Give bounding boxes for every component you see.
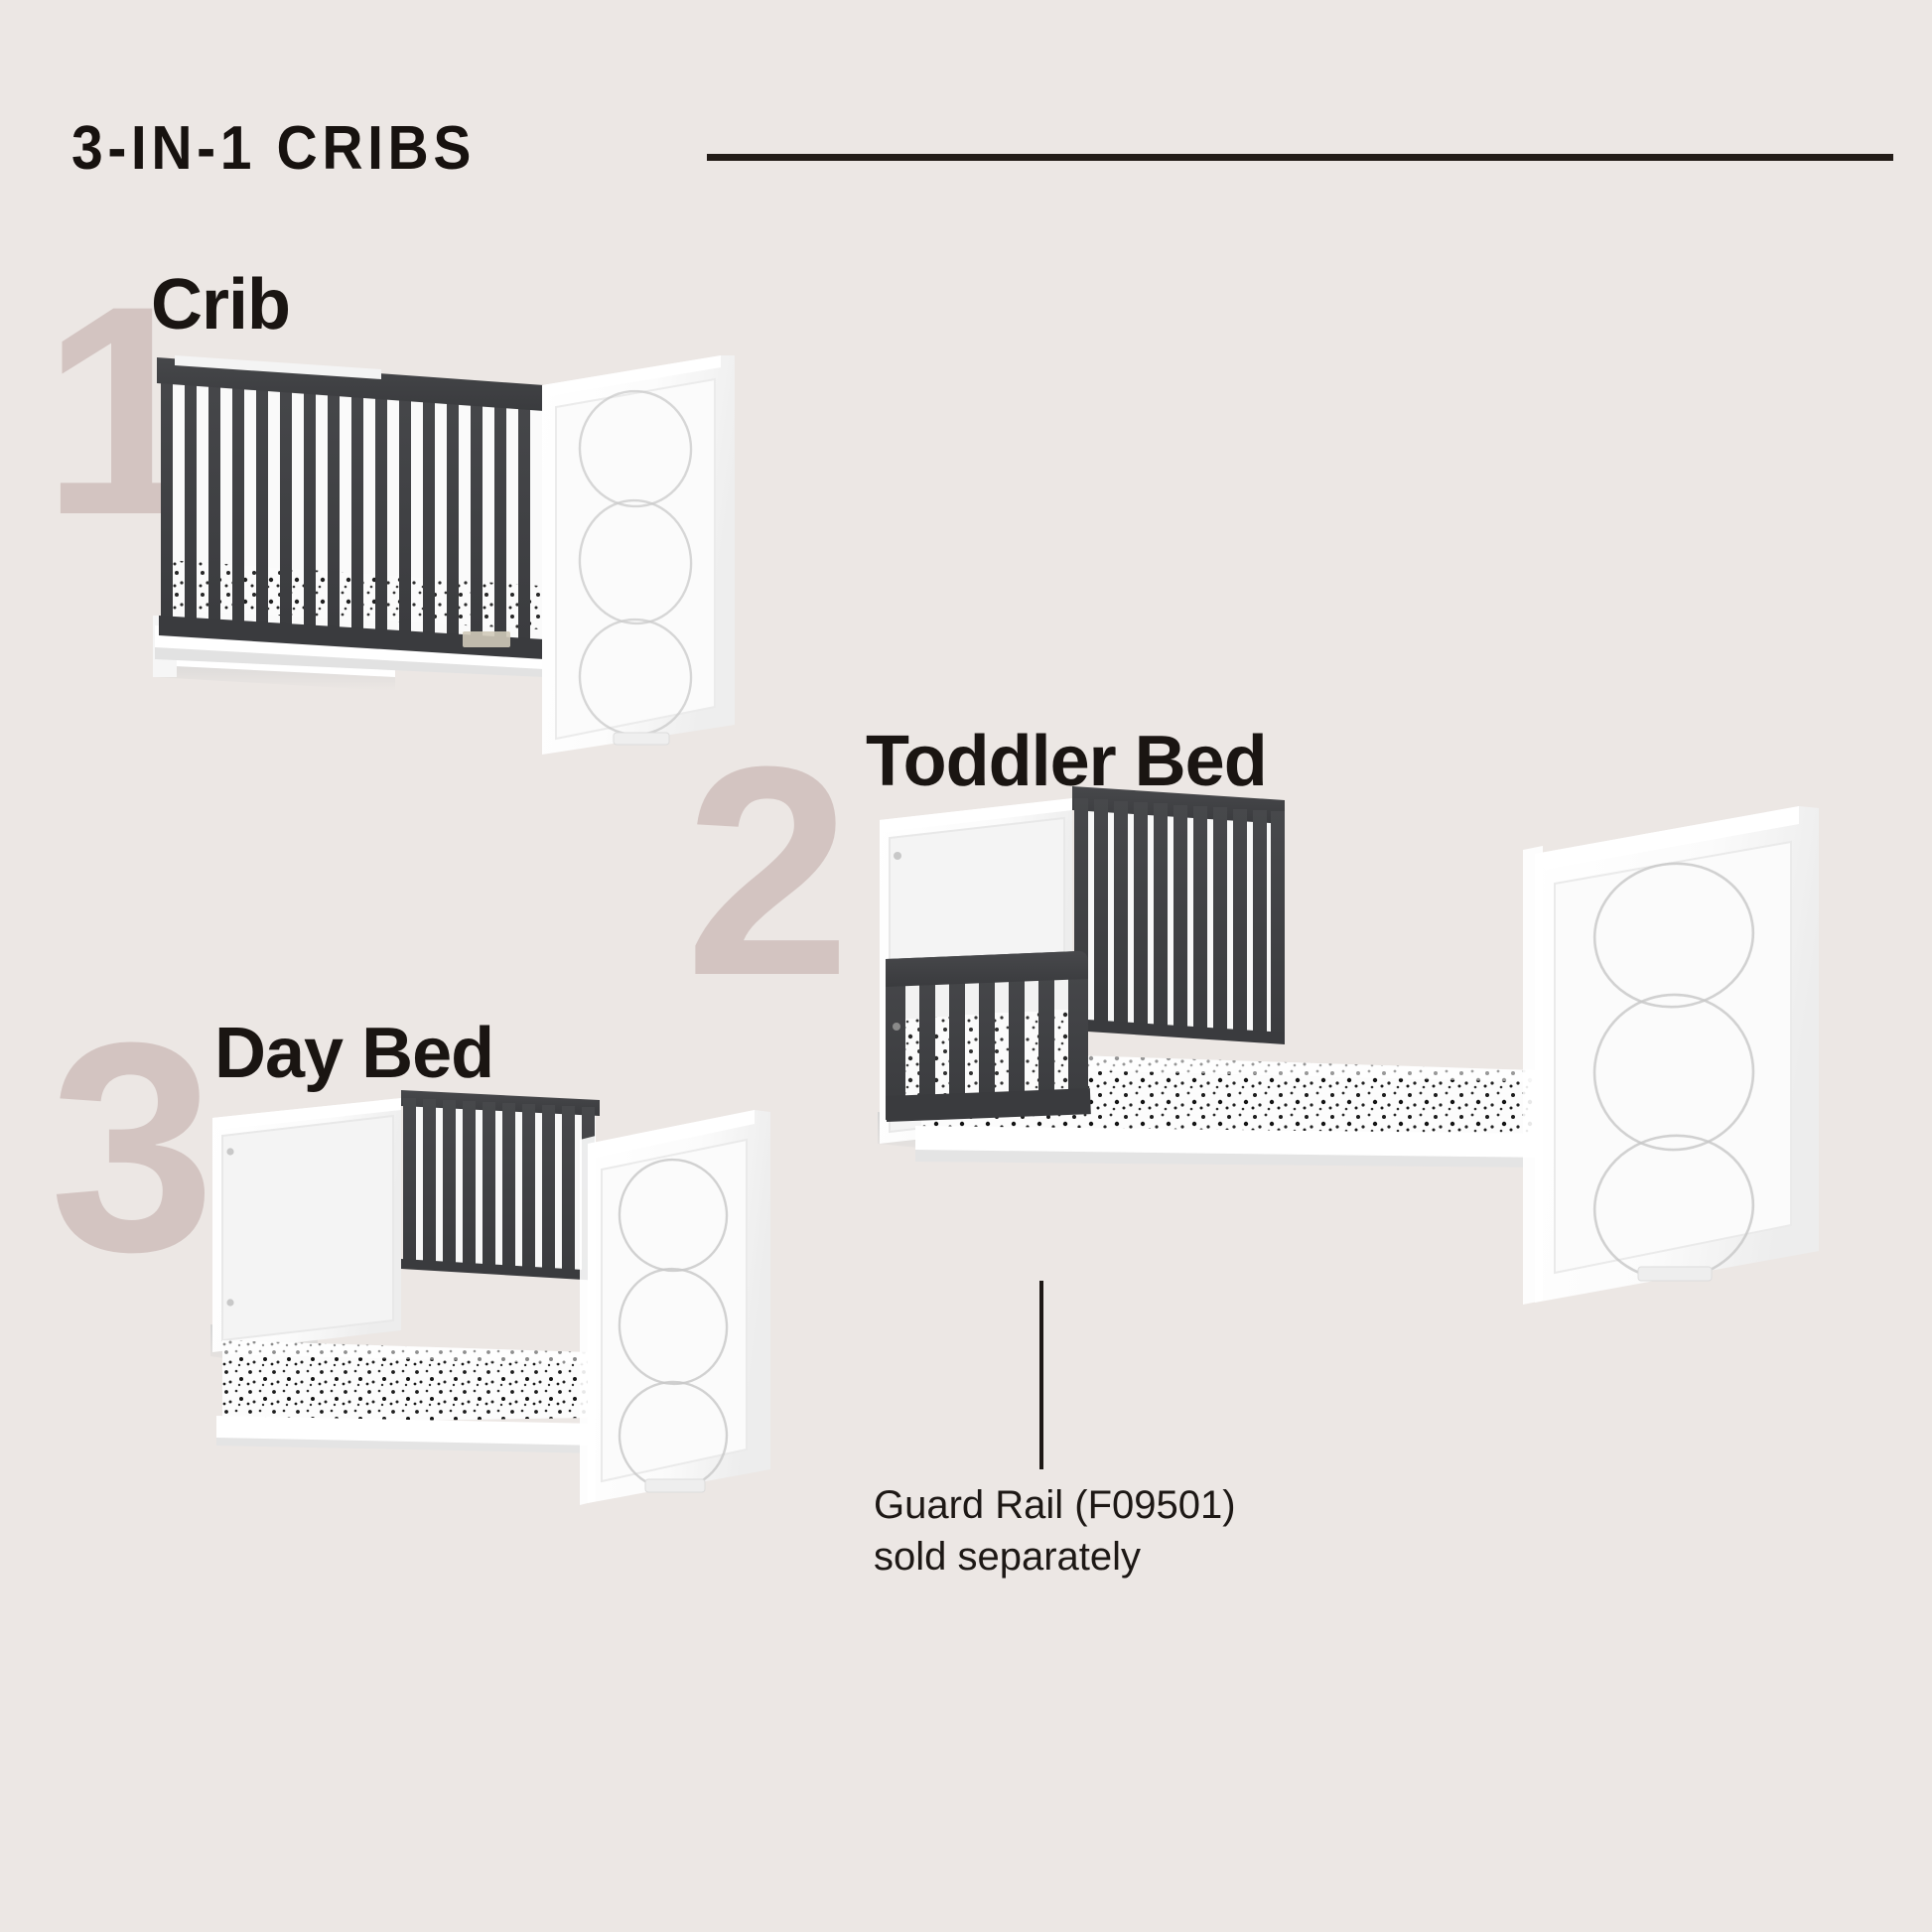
guard-rail-annotation: Guard Rail (F09501)sold separately [874,1479,1330,1583]
daybed-right-end-panel [588,1110,770,1503]
step-title-crib: Crib [151,266,290,344]
header-divider-rule [707,154,1893,161]
daybed-slat-wall [401,1090,600,1281]
product-image-crib [147,349,743,776]
crib-illustration [147,349,743,776]
annotation-line-1: Guard Rail (F09501) [874,1483,1236,1527]
step-number-2: 2 [685,747,851,995]
header: 3-IN-1 CRIBS [0,117,1932,197]
annotation-line-2: sold separately [874,1535,1141,1579]
toddler-right-end-panel [1535,806,1819,1303]
toddler-slat-wall [1072,786,1285,1044]
product-image-toddler-bed [864,784,1876,1420]
page-title: 3-IN-1 CRIBS [71,117,476,181]
step-number-3: 3 [50,1023,215,1271]
toddler-bed-illustration [864,784,1876,1420]
infographic-canvas: 3-IN-1 CRIBS 1 Crib [0,0,1932,1932]
daybed-left-end-panel [212,1098,401,1352]
crib-end-panel [542,355,735,755]
day-bed-illustration [199,1090,804,1537]
step-title-day-bed: Day Bed [214,1015,493,1092]
product-image-day-bed [199,1090,804,1537]
crib-slat-wall [157,357,544,659]
guard-rail-leader-line [1039,1281,1043,1469]
daybed-mattress [222,1340,588,1424]
guard-rail [886,951,1091,1122]
